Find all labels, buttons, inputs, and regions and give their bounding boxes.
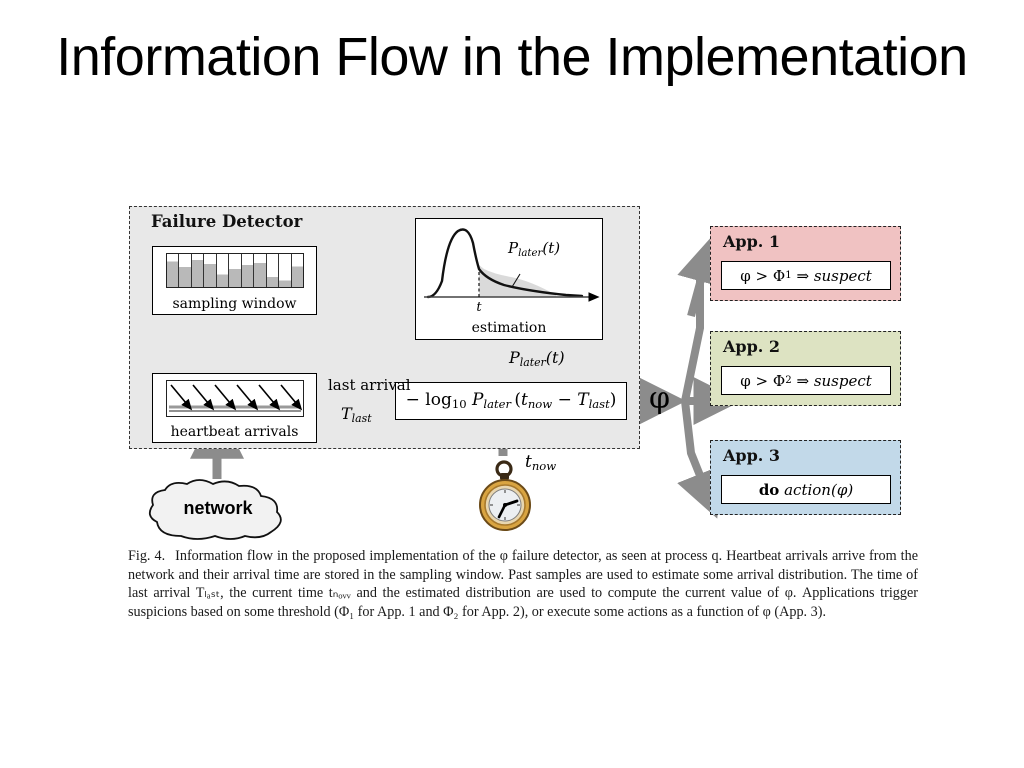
- histogram-bar: [292, 254, 303, 287]
- sampling-window-box: sampling window: [152, 246, 317, 315]
- network-label: network: [143, 498, 293, 519]
- histogram-bar: [217, 254, 229, 287]
- network-cloud: network: [143, 478, 293, 542]
- app-2-title: App. 2: [723, 337, 780, 356]
- histogram-bar: [167, 254, 179, 287]
- histogram-bar: [179, 254, 191, 287]
- histogram-bar: [242, 254, 254, 287]
- svg-text:t: t: [476, 300, 482, 315]
- app-box-1[interactable]: App. 1 φ > Φ1 ⇒ suspect: [710, 226, 901, 301]
- histogram-bar: [254, 254, 266, 287]
- phi-formula-text: − log10 Plater (tnow − Tlast): [406, 390, 617, 411]
- histogram-bar: [229, 254, 241, 287]
- arrow-phi-to-app3: [685, 401, 703, 483]
- app-1-rule: φ > Φ1 ⇒ suspect: [721, 261, 891, 290]
- failure-detector-label: Failure Detector: [151, 212, 302, 231]
- caption-fig-number: Fig. 4.: [128, 548, 165, 564]
- phi-formula-box: − log10 Plater (tnow − Tlast): [395, 382, 627, 420]
- clock-face: [474, 453, 540, 533]
- estimation-plot-box: t Plater(t) estimation: [415, 218, 603, 340]
- pocket-watch-icon: [474, 453, 540, 533]
- heartbeat-arrivals-label: heartbeat arrivals: [153, 424, 316, 440]
- app-box-3[interactable]: App. 3 do action(φ): [710, 440, 901, 515]
- caption-body: Information flow in the proposed impleme…: [128, 548, 918, 620]
- label-plater-edge: Plater(t): [509, 348, 565, 369]
- sampling-window-label: sampling window: [153, 296, 316, 312]
- heartbeat-arrows: [167, 381, 303, 416]
- heartbeat-arrivals-box: heartbeat arrivals: [152, 373, 317, 443]
- app-1-title: App. 1: [723, 232, 780, 251]
- app-box-2[interactable]: App. 2 φ > Φ2 ⇒ suspect: [710, 331, 901, 406]
- heartbeat-timeline: [166, 380, 304, 417]
- page-title: Information Flow in the Implementation: [0, 24, 1024, 91]
- histogram-bar: [204, 254, 216, 287]
- figure-caption: Fig. 4.Information flow in the proposed …: [128, 547, 918, 621]
- slide-canvas: Information Flow in the Implementation: [0, 0, 1024, 768]
- estimation-caption: estimation: [416, 320, 602, 336]
- plater-curve-label: Plater(t): [508, 239, 560, 259]
- estimation-distribution-curve: t: [416, 219, 600, 317]
- app-3-rule: do action(φ): [721, 475, 891, 504]
- sampling-window-histogram: [166, 253, 304, 288]
- app-2-rule: φ > Φ2 ⇒ suspect: [721, 366, 891, 395]
- label-last-arrival: last arrival: [328, 376, 411, 394]
- app-3-title: App. 3: [723, 446, 780, 465]
- histogram-bar: [267, 254, 279, 287]
- histogram-bar: [192, 254, 204, 287]
- histogram-bar: [279, 254, 291, 287]
- label-phi-symbol: φ: [649, 381, 670, 416]
- label-t-last: Tlast: [341, 404, 372, 425]
